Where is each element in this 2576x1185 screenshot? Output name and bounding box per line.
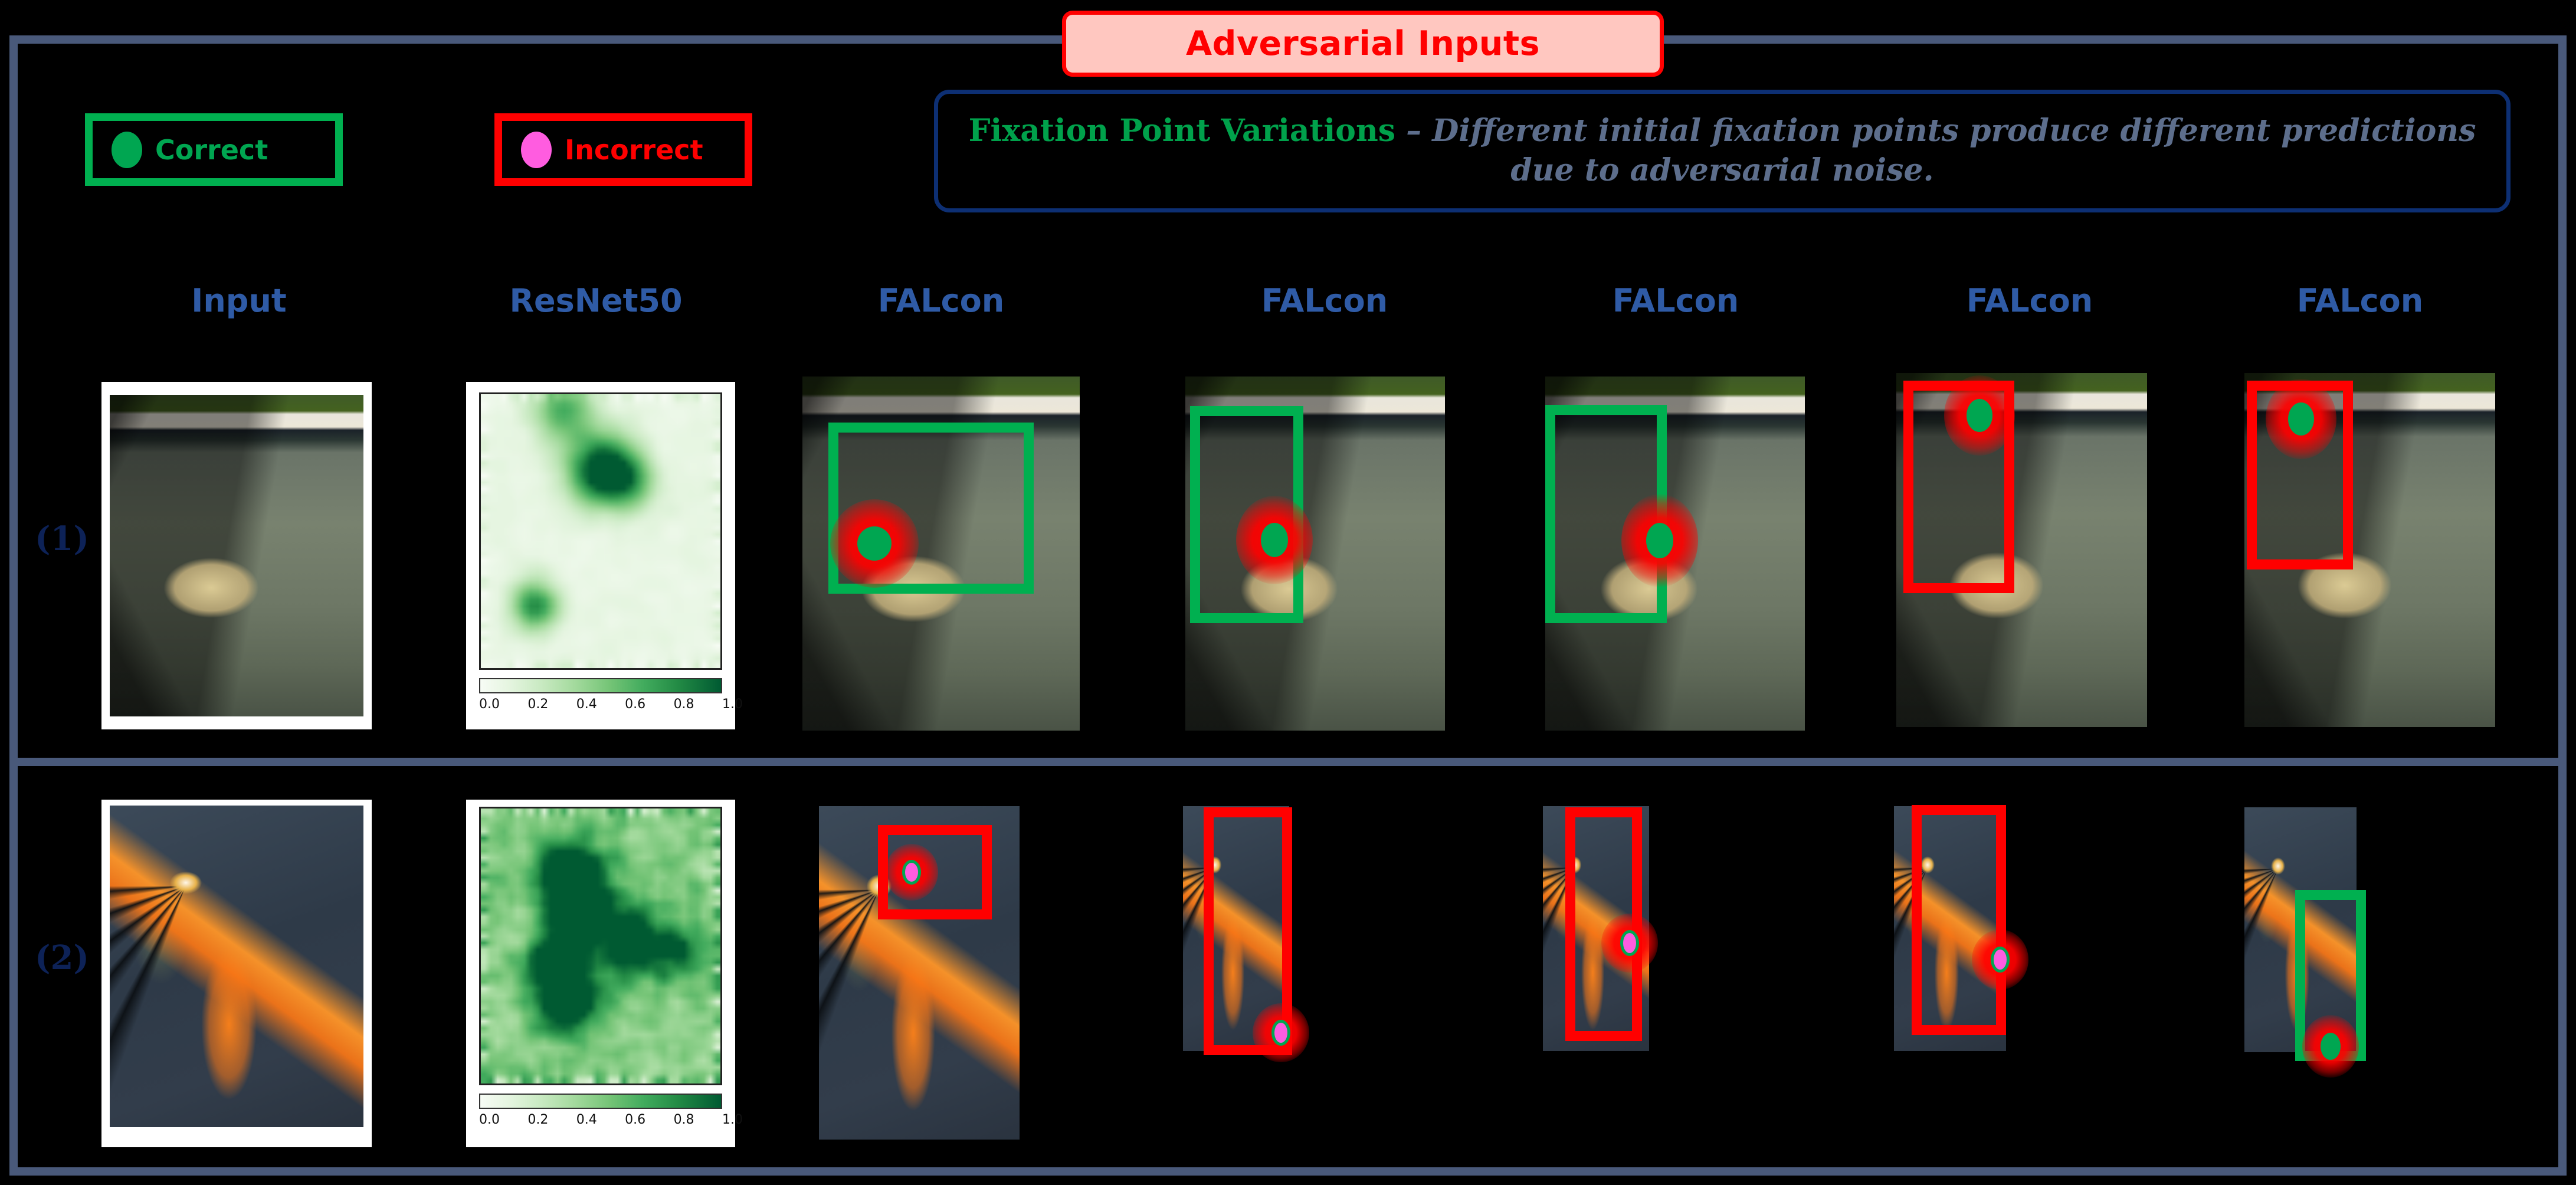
row-label-2: (2) [18, 938, 106, 977]
row-divider [9, 758, 2567, 766]
panel-row2-falcon-5 [2236, 796, 2513, 1155]
caption-separator: – [1395, 113, 1432, 149]
legend-incorrect-label: Incorrect [565, 134, 703, 166]
bounding-box-incorrect [1912, 805, 2006, 1035]
column-header-falcon-2: FALcon [1201, 282, 1448, 319]
title-text: Adversarial Inputs [1186, 24, 1540, 63]
input-image-tench [110, 395, 363, 716]
panel-row2-falcon-1 [808, 796, 1086, 1150]
saliency-heatmap-row1 [479, 392, 722, 670]
adversarial-inputs-title: Adversarial Inputs [1062, 11, 1664, 77]
caption-strong: Fixation Point Variations [969, 113, 1395, 149]
colorbar-ticks-row2: 0.00.20.40.60.81.0 [479, 1112, 722, 1127]
column-header-resnet50: ResNet50 [472, 282, 720, 319]
colorbar-row1 [479, 678, 722, 693]
panel-row1-falcon-1 [802, 377, 1080, 731]
caption-banner: Fixation Point Variations – Different in… [934, 90, 2511, 212]
input-image-goldfish [110, 806, 363, 1127]
colorbar-row2 [479, 1094, 722, 1109]
panel-row1-falcon-2 [1177, 377, 1454, 731]
panel-row1-input [101, 382, 372, 729]
legend-incorrect: Incorrect [494, 113, 752, 186]
column-header-falcon-3: FALcon [1552, 282, 1800, 319]
panel-row1-falcon-3 [1537, 377, 1814, 731]
panel-row2-falcon-2 [1177, 796, 1454, 1150]
colorbar-ticks-row1: 0.00.20.40.60.81.0 [479, 697, 722, 712]
correct-dot-icon [112, 132, 142, 168]
column-header-falcon-4: FALcon [1906, 282, 2154, 319]
incorrect-dot-icon [521, 132, 552, 168]
legend-correct-label: Correct [155, 134, 268, 166]
row-label-1: (1) [18, 519, 106, 558]
panel-row2-input [101, 800, 372, 1147]
column-header-falcon-5: FALcon [2236, 282, 2484, 319]
panel-row2-falcon-4 [1888, 796, 2165, 1150]
panel-row1-falcon-4 [1888, 373, 2165, 727]
panel-row2-falcon-3 [1537, 796, 1814, 1150]
panel-row1-falcon-5 [2236, 373, 2513, 727]
column-header-falcon-1: FALcon [817, 282, 1065, 319]
panel-row2-resnet50: 0.00.20.40.60.81.0 [466, 800, 735, 1147]
saliency-heatmap-row2 [479, 807, 722, 1085]
panel-row1-resnet50: 0.00.20.40.60.81.0 [466, 382, 735, 729]
caption-emphasis: Different initial fixation points produc… [1432, 113, 2476, 188]
column-header-input: Input [115, 282, 363, 319]
legend-correct: Correct [85, 113, 343, 186]
